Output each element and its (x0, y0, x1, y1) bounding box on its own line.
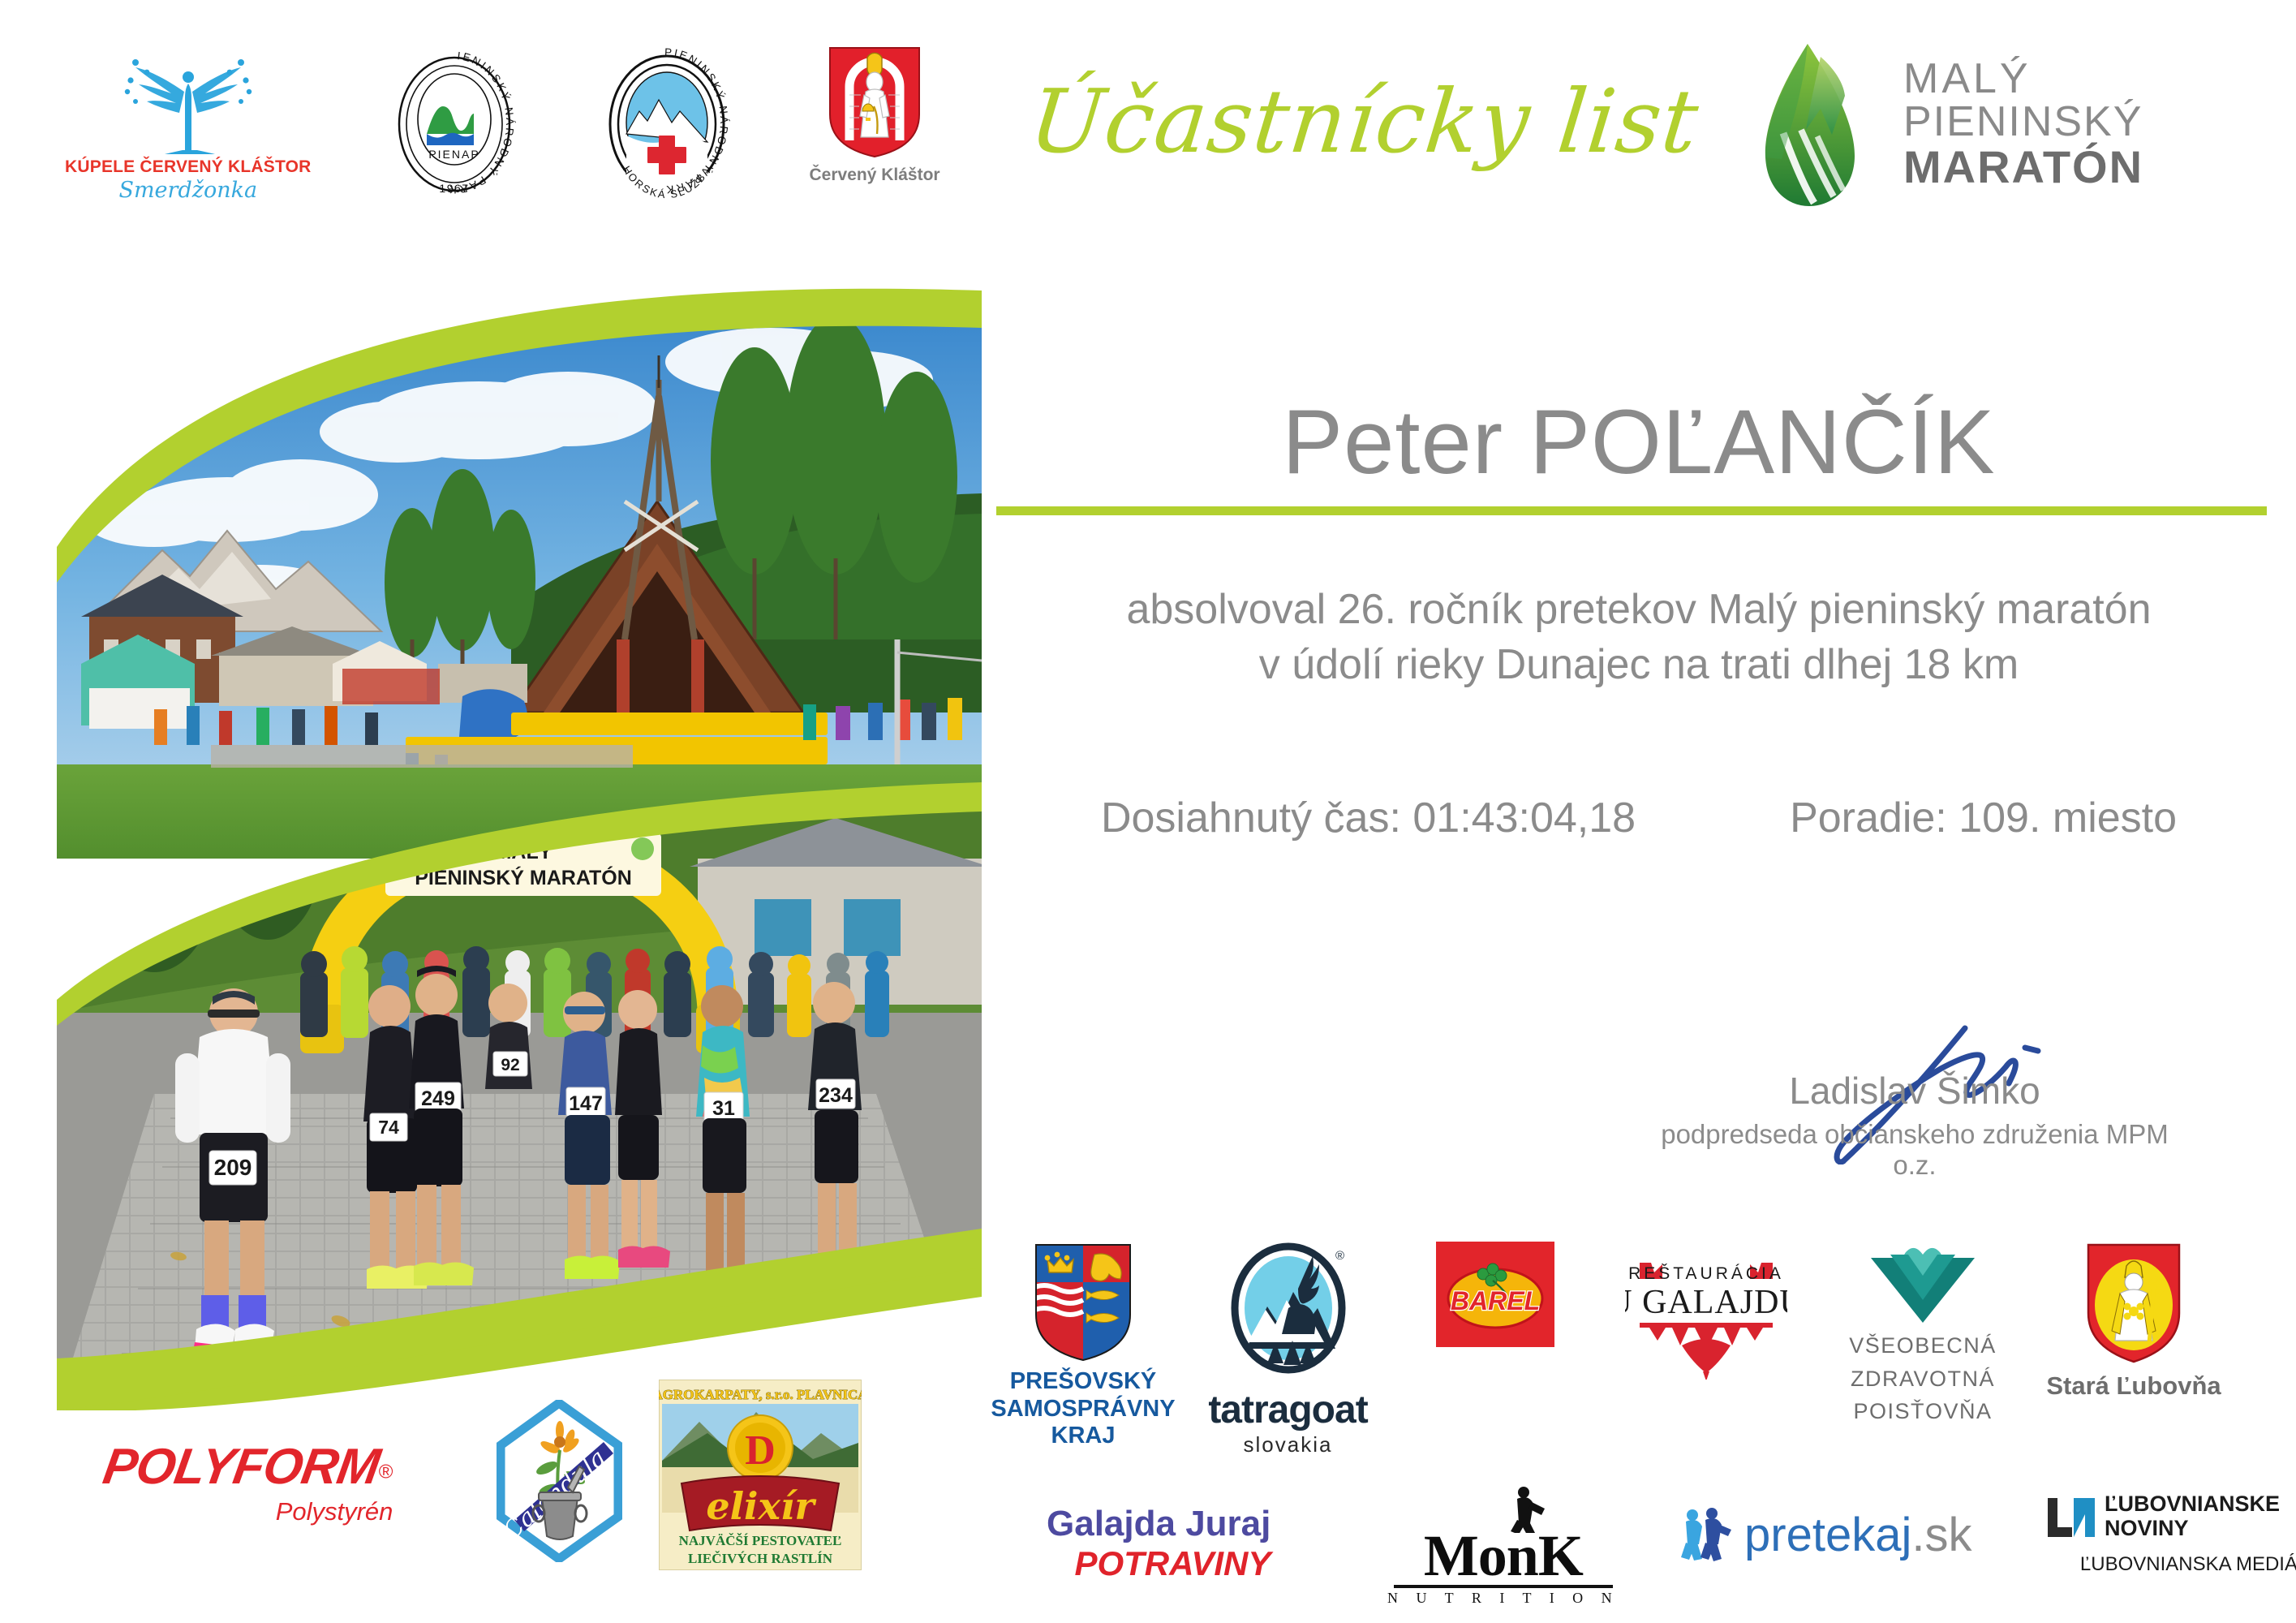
lms-footer-label: ĽUBOVNIANSKA MEDIÁLNA SPOLOČNOSŤ, s.r.o. (2044, 1553, 2296, 1576)
stara-lubovna-label: Stará Ľubovňa (2046, 1371, 2221, 1401)
vzp-label: VŠEOBECNÁ ZDRAVOTNÁ POISŤOVŇA (1849, 1329, 1997, 1428)
ln-line-2: NOVINY (2105, 1517, 2280, 1541)
elixir-brand-label: elixír (706, 1484, 817, 1528)
sponsor-tatragoat: ® tatragoat slovakia (1185, 1242, 1391, 1457)
page-title: Účastnícky list (1025, 71, 1703, 173)
sponsor-vseobecna-zdravotna-poistovna: VŠEOBECNÁ ZDRAVOTNÁ POISŤOVŇA (1813, 1242, 2032, 1428)
svg-text:PIENAP: PIENAP (428, 148, 479, 161)
psk-line-2: SAMOSPRÁVNY (991, 1396, 1175, 1423)
partner-logo-pienap: PIENINSKÝ NÁRODNÝ PARK PIENAP 1967 (385, 45, 524, 204)
vzp-heart-v-icon (1863, 1242, 1983, 1323)
top-partner-logos: KÚPELE ČERVENÝ KLÁŠTOR Smerdžonka PIENIN… (65, 45, 957, 248)
sponsor-agrokarpaty-elixir: AGROKARPATY, s.r.o. PLAVNICA D elixír NA… (659, 1380, 862, 1570)
result-place-label: Poradie: (1790, 794, 1947, 842)
ln-line-1: ĽUBOVNIANSKE (2105, 1492, 2280, 1517)
tatragoat-wordmark: tatragoat (1208, 1388, 1367, 1432)
svg-text:®: ® (1335, 1249, 1344, 1263)
sponsor-row-primary: PREŠOVSKÝ SAMOSPRÁVNY KRAJ (982, 1242, 2272, 1465)
psk-line-3: KRAJ (991, 1423, 1175, 1450)
signature-role: podpredseda občianskeho združenia MPM o.… (1647, 1119, 2182, 1181)
elixir-bottom-line-2: LIEČIVÝCH RASTLÍN (688, 1551, 833, 1566)
elixir-label-icon: AGROKARPATY, s.r.o. PLAVNICA D elixír NA… (659, 1380, 862, 1570)
polyform-registered-icon: ® (379, 1462, 393, 1483)
two-runners-icon (1679, 1505, 1736, 1564)
kupele-caption: KÚPELE ČERVENÝ KLÁŠTOR (65, 157, 312, 177)
polyform-wordmark: POLYFORM (99, 1438, 383, 1496)
vzp-line-3: POISŤOVŇA (1849, 1395, 1997, 1428)
svg-text:U GALAJDU: U GALAJDU (1625, 1284, 1787, 1321)
u-galajdu-logo-icon: REŠTAURÁCIA U GALAJDU (1625, 1242, 1787, 1380)
monk-sub: N U T R I T I O N (1387, 1590, 1619, 1607)
sponsor-stara-lubovna: Stará Ľubovňa (2032, 1242, 2235, 1401)
elixir-bottom-line-1: NAJVÄČŠÍ PESTOVATEĽ (679, 1533, 842, 1548)
vzp-line-1: VŠEOBECNÁ (1849, 1329, 1997, 1363)
certificate-description: absolvoval 26. ročník pretekov Malý pien… (1006, 583, 2272, 692)
elixir-top-label: AGROKARPATY, s.r.o. PLAVNICA (659, 1387, 862, 1402)
event-logo-line-2: PIENINSKÝ (1903, 101, 2143, 144)
tatragoat-sub: slovakia (1244, 1432, 1333, 1457)
sponsor-polyform: POLYFORM® Polystyrén (104, 1438, 393, 1526)
svg-text:BAREL: BAREL (1450, 1286, 1539, 1315)
result-place-value: 109. miesto (1958, 794, 2177, 842)
tatragoat-chamois-icon: ® (1228, 1242, 1348, 1384)
signature-name: Ladislav Šimko (1647, 1069, 2182, 1113)
svg-text:249: 249 (421, 1087, 455, 1110)
monk-wordmark: MonK (1387, 1528, 1619, 1583)
svg-text:1967: 1967 (439, 182, 469, 195)
polyform-sub: Polystyrén (104, 1497, 393, 1526)
sponsor-barel: BAREL (1391, 1242, 1598, 1347)
result-time-label: Dosiahnutý čas: (1101, 794, 1401, 842)
photo-panel: MALÝ PIENINSKÝ MARATÓN (57, 258, 982, 1410)
pretekaj-tld: .sk (1911, 1509, 1971, 1561)
accent-divider (996, 506, 2267, 515)
ln-label: ĽUBOVNIANSKE NOVINY (2105, 1492, 2280, 1540)
barel-logo-icon: BAREL (1436, 1242, 1554, 1347)
race-start-photo: MALÝ PIENINSKÝ MARATÓN (57, 769, 982, 1410)
green-leaf-mountain-icon (1736, 39, 1882, 209)
sponsor-lubovnianska-medialna-spolocnost: ĽUBOVNIANSKE NOVINY ĽUBOVNIANSKA TELEVÍZ… (2044, 1492, 2296, 1576)
calendula-mortar-icon: Calendula (497, 1400, 622, 1562)
signature-block: Ladislav Šimko podpredseda občianskeho z… (1647, 1010, 2182, 1181)
svg-text:D: D (745, 1427, 776, 1474)
sponsor-row-secondary: Galajda Juraj POTRAVINY MonK N U T R I T… (982, 1481, 2280, 1611)
pretekaj-word: pretekaj (1744, 1509, 1911, 1561)
event-logo-line-1: MALÝ (1903, 58, 2143, 101)
pretekaj-wordmark: pretekaj.sk (1744, 1508, 1971, 1562)
kupele-subcaption: Smerdžonka (118, 178, 257, 203)
event-logo-wordmark: MALÝ PIENINSKÝ MARATÓN (1903, 58, 2143, 190)
svg-text:209: 209 (214, 1155, 252, 1180)
park-seal-icon: PIENINSKÝ NÁRODNÝ PARK PIENAP 1967 (385, 45, 524, 204)
sponsor-monk-nutrition: MonK N U T R I T I O N (1387, 1484, 1619, 1607)
event-logo: MALÝ PIENINSKÝ MARATÓN (1736, 39, 2143, 209)
stara-lubovna-coat-of-arms-icon (2084, 1242, 2183, 1365)
lms-logos-row: ĽUBOVNIANSKE NOVINY ĽUBOVNIANSKA TELEVÍZ… (2044, 1492, 2296, 1540)
svg-text:147: 147 (569, 1092, 603, 1115)
partner-logo-cerveny-klastor: Červený Kláštor (810, 45, 940, 185)
result-place: Poradie: 109. miesto (1790, 794, 2177, 842)
water-angel-icon (103, 45, 273, 154)
svg-text:234: 234 (819, 1084, 853, 1107)
psk-coat-of-arms-icon (1031, 1242, 1135, 1363)
svg-text:92: 92 (501, 1056, 519, 1074)
mountain-rescue-seal-icon: PIENINSKÝ NÁRODNÝ PARK HORSKÁ SLUŽBA (597, 45, 737, 204)
partner-logo-kupele-cerveny-klastor: KÚPELE ČERVENÝ KLÁŠTOR Smerdžonka (65, 45, 312, 203)
cerveny-klastor-label: Červený Kláštor (810, 166, 940, 185)
event-logo-line-3: MARATÓN (1903, 144, 2143, 190)
partner-logo-horska-sluzba: PIENINSKÝ NÁRODNÝ PARK HORSKÁ SLUŽBA (597, 45, 737, 204)
result-time-value: 01:43:04,18 (1412, 794, 1636, 842)
participant-certificate: KÚPELE ČERVENÝ KLÁŠTOR Smerdžonka PIENIN… (0, 0, 2296, 1623)
description-line-1: absolvoval 26. ročník pretekov Malý pien… (1006, 583, 2272, 638)
sponsor-restauracia-u-galajdu: REŠTAURÁCIA U GALAJDU (1598, 1242, 1813, 1380)
svg-text:REŠTAURÁCIA: REŠTAURÁCIA (1628, 1264, 1784, 1283)
svg-text:74: 74 (378, 1117, 399, 1138)
recipient-name: Peter POĽANČÍK (1006, 390, 2272, 494)
venue-amphitheatre-photo (57, 258, 982, 859)
coat-of-arms-monk-icon (827, 45, 922, 160)
vzp-line-2: ZDRAVOTNÁ (1849, 1363, 1997, 1396)
psk-label: PREŠOVSKÝ SAMOSPRÁVNY KRAJ (991, 1368, 1175, 1450)
sponsor-lubovnianske-noviny: ĽUBOVNIANSKE NOVINY (2044, 1492, 2280, 1540)
galajda-line-1: Galajda Juraj (1047, 1504, 1271, 1544)
sponsor-galajda-juraj-potraviny: Galajda Juraj POTRAVINY (1047, 1504, 1271, 1583)
polyform-wordmark-row: POLYFORM® (104, 1438, 393, 1496)
ln-monogram-icon (2044, 1495, 2098, 1539)
sponsor-calendula: Calendula (497, 1400, 622, 1562)
result-time: Dosiahnutý čas: 01:43:04,18 (1101, 794, 1636, 842)
results-row: Dosiahnutý čas: 01:43:04,18 Poradie: 109… (1006, 794, 2272, 842)
galajda-line-2: POTRAVINY (1047, 1544, 1271, 1583)
sponsor-presovsky-samospravny-kraj: PREŠOVSKÝ SAMOSPRÁVNY KRAJ (982, 1242, 1185, 1450)
psk-line-1: PREŠOVSKÝ (991, 1368, 1175, 1396)
description-line-2: v údolí rieky Dunajec na trati dlhej 18 … (1006, 638, 2272, 693)
sponsor-pretekaj-sk: pretekaj.sk (1679, 1505, 1971, 1564)
svg-text:31: 31 (712, 1097, 735, 1120)
